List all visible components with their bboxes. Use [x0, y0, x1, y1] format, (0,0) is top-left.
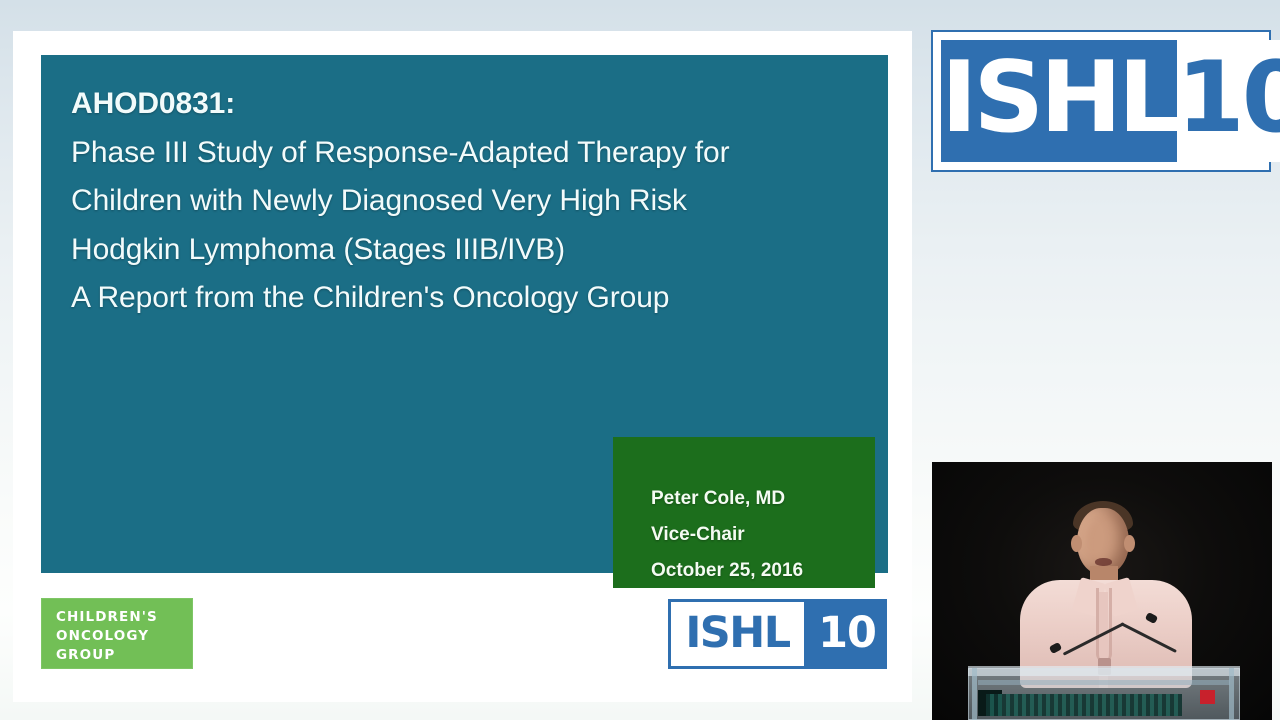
ishl-logo-slide-mark-box: ISHL [668, 599, 807, 669]
podium-keyboard [986, 694, 1182, 716]
ishl-logo-header-mark: ISHL [941, 49, 1177, 147]
ishl-logo-header-number: 10 [1177, 49, 1280, 147]
podium-logo-icon [1200, 690, 1215, 704]
speaker-ear-left-icon [1071, 535, 1082, 552]
slide-heading: AHOD0831: [71, 80, 881, 129]
speaker-ear-right-icon [1124, 535, 1135, 552]
podium-post-left [972, 668, 977, 720]
ishl-logo-header-number-box: 10 [1177, 40, 1280, 162]
podium-post-right [1229, 668, 1234, 720]
speaker-video-panel[interactable] [932, 462, 1272, 720]
slide-panel[interactable]: AHOD0831: Phase III Study of Response-Ad… [13, 31, 912, 702]
presenter-role: Vice-Chair [651, 517, 803, 553]
slide-title-line-2: Children with Newly Diagnosed Very High … [71, 177, 881, 226]
ishl-logo-header: ISHL 10 [931, 30, 1271, 172]
slide-heading-group: AHOD0831: Phase III Study of Response-Ad… [71, 80, 881, 323]
slide-title-line-3: Hodgkin Lymphoma (Stages IIIB/IVB) [71, 226, 881, 275]
presenter-box: Peter Cole, MD Vice-Chair October 25, 20… [613, 437, 875, 588]
ishl-logo-slide-number: 10 [818, 612, 876, 655]
cog-logo-line-1: CHILDREN'S [56, 608, 158, 627]
speaker-video-frame [932, 462, 1272, 720]
presenter-details: Peter Cole, MD Vice-Chair October 25, 20… [651, 481, 803, 589]
ishl-logo-slide: ISHL 10 [668, 599, 887, 669]
slide-title-block: AHOD0831: Phase III Study of Response-Ad… [41, 55, 888, 573]
presenter-name: Peter Cole, MD [651, 481, 803, 517]
speaker-lanyard-icon [1096, 588, 1112, 662]
speaker-mouth-icon [1095, 558, 1112, 566]
podium-top-surface [968, 666, 1240, 676]
cog-logo-line-2: ONCOLOGY [56, 627, 158, 646]
slide-title-line-4: A Report from the Children's Oncology Gr… [71, 274, 881, 323]
cog-logo-text: CHILDREN'S ONCOLOGY GROUP [56, 608, 158, 665]
cog-logo-line-3: GROUP [56, 646, 158, 665]
podium-rail [978, 680, 1230, 685]
ishl-logo-header-mark-box: ISHL [941, 40, 1177, 162]
presenter-date: October 25, 2016 [651, 553, 803, 589]
ishl-logo-slide-mark: ISHL [685, 612, 789, 655]
childrens-oncology-group-logo: CHILDREN'S ONCOLOGY GROUP [41, 598, 193, 669]
slide-title-line-1: Phase III Study of Response-Adapted Ther… [71, 129, 881, 178]
ishl-logo-slide-number-box: 10 [807, 599, 887, 669]
